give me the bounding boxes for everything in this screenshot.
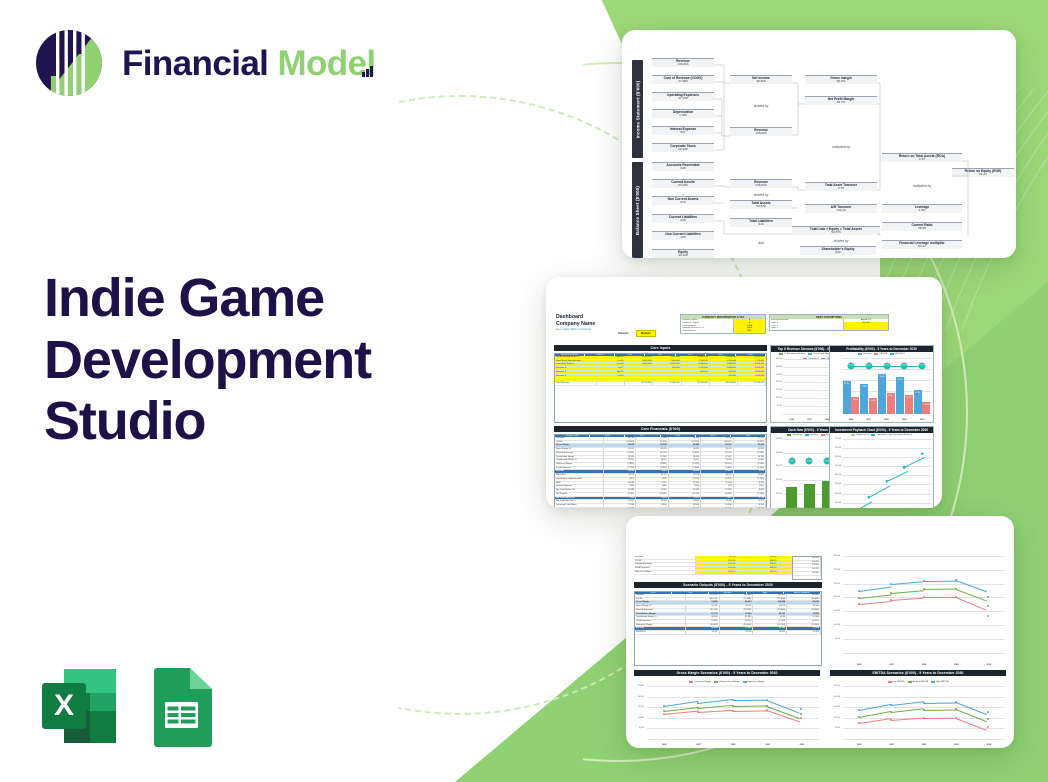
data-point[interactable] (766, 709, 768, 711)
dupont-node: Total Assets 50,576 (730, 200, 792, 209)
dupont-node: Total Liabilities 949 (730, 218, 792, 227)
core-financials-rows: Revenue30,20027,86036,44034,13421,539COG… (555, 437, 766, 508)
table-cell: 52.3% (787, 631, 821, 635)
operator-label: multiplied by (882, 184, 962, 188)
scenario-outputs-rows: Revenue125,130136,800150,480136,800COGS(… (635, 594, 821, 635)
line-segment (891, 709, 924, 713)
data-point[interactable] (858, 603, 860, 605)
data-point[interactable] (987, 605, 989, 607)
profitability-chart[interactable]: Profitability ($'000) - 5 Years to Decem… (829, 345, 934, 423)
line-segment (664, 701, 699, 707)
operator-label: Add (730, 241, 792, 245)
line-segment (859, 718, 892, 724)
y-tick: 15,000 (834, 610, 840, 612)
y-tick: - (781, 413, 782, 415)
y-tick: 52,000 (835, 465, 841, 467)
x-tick: 2029 (940, 664, 972, 666)
line-series (843, 556, 1004, 658)
x-tick: 2030 (973, 664, 1005, 666)
data-point[interactable] (890, 583, 892, 585)
data-point[interactable] (732, 710, 734, 712)
data-point[interactable] (923, 580, 925, 582)
dupont-node: Interest Expense 527 (652, 126, 714, 135)
data-point[interactable] (955, 588, 957, 590)
y-axis: 72,00071,00062,00052,00043,00033,00024,0… (831, 439, 842, 508)
line-segment (859, 595, 892, 599)
panel-row: Loan 3 (770, 327, 888, 330)
dupont-node: Total Asset Turnover 2.70 (805, 182, 877, 191)
y-tick: - (839, 738, 840, 740)
line-segment (923, 709, 956, 710)
y-tick: 15,000 (834, 706, 840, 708)
y-tick: 25,000 (638, 685, 644, 687)
ebitda-scenarios-chart[interactable]: 25,00020,00015,00010,0005,000-2026202720… (830, 686, 1006, 746)
y-tick: 30,000 (776, 465, 782, 467)
dupont-node: Total Liab + Equity = Total Assets 50,57… (792, 226, 880, 235)
x-tick: 2027 (875, 664, 907, 666)
x-tick: 2027 (801, 419, 819, 421)
x-axis: 20262027202820292030 (843, 664, 1005, 666)
investment-payback-chart[interactable]: Investment Payback Chart ($'000) - 5 Yea… (829, 426, 934, 508)
dupont-tree: Income Statement ($'000) Balance Sheet (… (632, 58, 1008, 236)
dupont-node: Net Profit Margin 35.7% (805, 96, 877, 105)
data-point[interactable] (890, 719, 892, 721)
y-tick: 10,000 (834, 624, 840, 626)
line-segment (732, 705, 767, 706)
scenario-label: Scenario (614, 331, 633, 336)
data-point[interactable] (697, 707, 699, 709)
line-segment (923, 589, 956, 590)
y-tick: 20,000 (776, 479, 782, 481)
table-cell: 60.8% (753, 631, 787, 635)
y-tick: 30,000 (834, 569, 840, 571)
data-point[interactable] (955, 596, 957, 598)
data-point[interactable] (923, 717, 925, 719)
brand-name-part2: Model (277, 46, 375, 81)
x-tick: 2028 (878, 419, 896, 421)
data-point[interactable] (732, 705, 734, 707)
payback-line (842, 439, 931, 508)
gross-margin-scenarios-chart[interactable]: 25,00020,00015,00010,0005,000-2026202720… (634, 686, 820, 746)
y-tick: 25,000 (834, 583, 840, 585)
y-tick: 15,000 (638, 706, 644, 708)
table-total-row: Total Revenue30,200,00027,860,00036,440,… (555, 382, 766, 386)
dupont-node: Depreciation 1,785 (652, 109, 714, 118)
x-tick: 2026 (842, 419, 860, 421)
x-tick: 2026 (843, 744, 875, 746)
income-statement-rail: Income Statement ($'000) (632, 60, 643, 158)
brand-logo: Financial Model (34, 28, 376, 98)
data-point[interactable] (858, 716, 860, 718)
x-tick: 2030 (973, 744, 1005, 746)
ebitda-legend: Low EBITDA Medium EBITDA High EBITDA (830, 680, 1006, 683)
data-point[interactable] (732, 699, 734, 701)
y-tick: 20,000 (834, 696, 840, 698)
bar-group (783, 359, 801, 414)
data-point[interactable] (890, 599, 892, 601)
x-tick: 2029 (940, 744, 972, 746)
x-tick: 2028 (908, 664, 940, 666)
dashboard-card[interactable]: Dashboard Company Name Go to Filled Tabl… (546, 277, 942, 508)
table-row: EBITDA %42.1%52.3%60.8%52.3% (635, 631, 821, 635)
dupont-node: Net Income 48,828 (730, 75, 792, 84)
line-segment (869, 486, 890, 498)
percent-line: 56.3%57.1%58.4%58.0%55.8% (842, 358, 931, 414)
y-tick: 25,000 (776, 374, 782, 376)
dupont-node: Cost of Revenue (COGS) 47,880 (652, 75, 714, 84)
y-tick: 35,000 (776, 358, 782, 360)
dupont-node: A/R Turnover 144.29 (805, 204, 877, 213)
x-tick: 2029 (895, 419, 913, 421)
operator-label: multiplied by (805, 145, 877, 149)
y-tick: 5,000 (639, 727, 644, 729)
dupont-node: Revenue 136,800 (730, 179, 792, 188)
y-tick: 72,000 (835, 438, 841, 440)
gross-margin-legend: Low Gross Margin Medium Gross Margin Hig… (634, 680, 820, 683)
brand-name-part1: Financial (122, 44, 268, 83)
data-point[interactable] (923, 709, 925, 711)
line-segment (886, 471, 907, 482)
y-axis: 50,00040,00030,00020,00010,000-(10,000) (772, 439, 783, 508)
core-financials-table[interactable]: Income Flow 2026 2027 2028 2029 2030 Rev… (554, 434, 767, 508)
data-point[interactable] (955, 717, 957, 719)
data-point[interactable] (890, 711, 892, 713)
line-segment (891, 717, 924, 720)
chart-legend: Payback year Cumulative Cash Generated (… (830, 433, 933, 436)
core-inputs-table[interactable]: Revenue Streams Launch 2026 2027 2028 20… (554, 353, 767, 423)
dupont-node: Non Current Liabilities 100 (652, 231, 714, 240)
data-point[interactable] (858, 722, 860, 724)
data-point[interactable] (858, 597, 860, 599)
data-label: 57.1% (865, 362, 872, 369)
y-tick: 5,000 (835, 638, 840, 640)
data-point[interactable] (885, 480, 888, 483)
y-tick: 10,000 (638, 717, 644, 719)
x-tick: 2030 (913, 419, 931, 421)
line-series (647, 686, 818, 738)
data-point[interactable] (987, 726, 989, 728)
y-axis (831, 358, 842, 421)
y-tick: 24,000 (835, 493, 841, 495)
line-segment (859, 601, 892, 605)
data-point[interactable] (921, 452, 924, 455)
page-title: Indie Game Development Studio (44, 268, 474, 453)
y-axis: 35,00030,00025,00020,00015,00010,0005,00… (772, 359, 783, 421)
x-tick: 2026 (647, 744, 681, 746)
y-tick: 14,000 (835, 502, 841, 504)
data-point[interactable] (987, 711, 989, 713)
gridline (843, 739, 1005, 740)
table-cell: EBITDA % (635, 631, 686, 635)
line-segment (859, 586, 892, 591)
scenario-analysis-card[interactable]: Revenue85.0%100.0%110.0% COGS105.0%100.0… (626, 516, 1014, 748)
x-tick: 2029 (750, 744, 784, 746)
line-segment (851, 501, 872, 508)
dupont-node: Non Current Assets 570 (652, 196, 714, 205)
data-point[interactable] (923, 702, 925, 704)
line-segment (956, 702, 987, 715)
y-tick: 50,000 (776, 438, 782, 440)
y-tick: 5,000 (835, 727, 840, 729)
dupont-node: Current Ratio 58.98 (882, 222, 962, 231)
revenue-scenarios-chart[interactable]: 35,00030,00025,00020,00015,00010,0005,00… (830, 556, 1006, 666)
debt-assumptions-panel: DEBT ASSUMPTIONS Loan/Grant NameAmount, … (769, 314, 889, 331)
data-label: 8,600 (788, 458, 795, 465)
data-point[interactable] (663, 713, 665, 715)
data-point[interactable] (955, 708, 957, 710)
financial-model-circle-logo-icon (34, 28, 104, 98)
dupont-node: Gross margin 65.0% (805, 75, 877, 84)
core-financials-section-bar: Core Financials ($'000) (554, 426, 767, 432)
dupont-node: Revenue 136,800 (652, 58, 714, 67)
y-tick: 20,000 (638, 696, 644, 698)
data-point[interactable] (903, 466, 906, 469)
line-segment (923, 597, 956, 598)
line-segment (891, 598, 924, 601)
data-point[interactable] (663, 705, 665, 707)
data-point[interactable] (955, 579, 957, 581)
dupont-node: Leverage 1.9% (882, 204, 962, 213)
dupont-node: Equity 49,628 (652, 249, 714, 258)
dupont-node: Current Assets 50,006 (652, 179, 714, 188)
y-tick: 5,000 (777, 405, 782, 407)
operator-label: divided by (805, 239, 877, 243)
y-tick: 10,000 (776, 493, 782, 495)
microsoft-excel-icon[interactable]: X (38, 665, 120, 747)
panel-row: Corporation %30% (681, 330, 765, 333)
dupont-node: Operating Expenses 17,758 (652, 92, 714, 101)
y-tick: 62,000 (835, 456, 841, 458)
dupont-analysis-card[interactable]: Income Statement ($'000) Balance Sheet (… (622, 30, 1016, 258)
chart-legend: Revenue EBITDA EBITDA % (830, 352, 933, 355)
line-segment (732, 710, 767, 711)
x-tick: 2030 (785, 744, 819, 746)
y-tick: - (839, 652, 840, 654)
y-tick: 30,000 (776, 366, 782, 368)
data-label: 58.4% (883, 362, 890, 369)
scenario-value[interactable]: Medium (636, 330, 656, 337)
x-tick: 2027 (681, 744, 715, 746)
y-axis: 25,00020,00015,00010,0005,000- (634, 686, 645, 746)
dashboard-sheet: Dashboard Company Name Go to Filled Tabl… (554, 314, 935, 486)
data-point[interactable] (800, 717, 802, 719)
bar-group (801, 359, 819, 414)
y-tick: - (643, 738, 644, 740)
y-tick: 35,000 (834, 555, 840, 557)
dupont-node: Corporate Taxes 20,926 (652, 143, 714, 152)
data-point[interactable] (766, 705, 768, 707)
x-axis: 20262027202820292030 (647, 744, 819, 746)
y-axis: 25,00020,00015,00010,0005,000- (830, 686, 841, 746)
y-tick: 71,000 (835, 447, 841, 449)
y-tick: 40,000 (776, 452, 782, 454)
y-tick: 15,000 (776, 389, 782, 391)
y-tick: 43,000 (835, 474, 841, 476)
x-axis: 20262027202820292030 (843, 744, 1005, 746)
line-segment (698, 710, 733, 713)
y-tick: 20,000 (776, 381, 782, 383)
data-point[interactable] (766, 699, 768, 701)
dupont-node: Return on Total Assets (ROA) 0.97 (882, 153, 962, 162)
dashboard-title: Dashboard Company Name Go to Filled Tabl… (556, 314, 595, 331)
table-row: 100.0% (793, 572, 821, 576)
scenario-active-table: 100.0% 100.0% 100.0% 100.0% 100.0% (792, 556, 822, 580)
operator-label: divided by (730, 193, 792, 197)
table-cell: 52.3% (720, 631, 754, 635)
data-point[interactable] (800, 713, 802, 715)
data-point[interactable] (987, 615, 989, 617)
line-segment (698, 705, 733, 709)
balance-sheet-rail: Balance Sheet ($'000) (632, 162, 643, 258)
data-point[interactable] (867, 496, 870, 499)
data-label: 58.0% (901, 362, 908, 369)
x-tick: 2027 (875, 744, 907, 746)
x-tick: 2027 (860, 419, 878, 421)
data-point[interactable] (858, 590, 860, 592)
data-point[interactable] (890, 704, 892, 706)
line-segment (891, 582, 924, 585)
line-segment (923, 702, 956, 703)
line-segment (891, 590, 924, 593)
data-point[interactable] (987, 596, 989, 598)
line-series (843, 686, 1004, 738)
table-cell: 42.1% (686, 631, 720, 635)
line-segment (698, 699, 733, 704)
y-tick: 25,000 (834, 685, 840, 687)
line-segment (859, 704, 891, 711)
operator-label: divided by (730, 104, 792, 108)
y-tick: 10,000 (776, 397, 782, 399)
logo-bars-icon (362, 64, 372, 77)
data-point[interactable] (923, 596, 925, 598)
currency-denomination-panel: CURRENCY DENOMINATION & TAX Currency Inp… (680, 314, 766, 334)
slide-canvas: Financial Model Indie Game Development S… (0, 0, 1048, 782)
dupont-node: Financial Leverage multiplier 63.22 (882, 240, 962, 249)
brand-wordmark: Financial Model (122, 46, 376, 81)
google-sheets-icon[interactable] (148, 665, 214, 747)
data-point[interactable] (697, 711, 699, 713)
y-tick: 20,000 (834, 596, 840, 598)
y-tick: - (781, 506, 782, 508)
x-tick: 2026 (783, 419, 801, 421)
gridline (647, 739, 819, 740)
line-segment (904, 457, 925, 468)
scenario-selector[interactable]: Scenario Medium (614, 330, 656, 337)
line-segment (923, 580, 956, 581)
toc-link[interactable]: Go to Filled Table of Contents (556, 328, 595, 331)
y-axis: 35,00030,00025,00020,00015,00010,0005,00… (830, 556, 841, 666)
y-tick: 10,000 (834, 717, 840, 719)
line-segment (664, 711, 699, 715)
data-point[interactable] (858, 709, 860, 711)
dupont-node: Current Liabilities 648 (652, 214, 714, 223)
line-segment (732, 700, 767, 701)
data-point[interactable] (890, 592, 892, 594)
dupont-node-roe: Return on Equity (ROE) 61.03 (952, 168, 1014, 177)
dupont-node: Shareholder's Equity 800 (800, 246, 876, 255)
data-point[interactable] (923, 588, 925, 590)
data-point[interactable] (800, 708, 802, 710)
scenario-sheet: Revenue85.0%100.0%110.0% COGS105.0%100.0… (634, 554, 1006, 728)
data-label: 56.3% (847, 362, 854, 369)
dupont-node: Revenue 136,800 (730, 127, 792, 136)
file-format-icons: X (38, 665, 214, 747)
data-point[interactable] (955, 701, 957, 703)
dupont-node: Accounts Receivable 948 (652, 162, 714, 171)
x-axis: 20262027202820292030 (842, 419, 931, 421)
x-tick: 2028 (908, 744, 940, 746)
line-segment (891, 702, 924, 706)
scenario-outputs-table[interactable]: 2030 Low Medium High Active (Medium) Rev… (634, 591, 822, 666)
line-segment (923, 717, 956, 718)
data-point[interactable] (987, 718, 989, 720)
x-tick: 2026 (843, 664, 875, 666)
x-tick: 2028 (716, 744, 750, 746)
core-inputs-section-bar: Core Inputs (554, 345, 767, 351)
ebitda-scenarios-bar: EBITDA Scenarios ($'000) - 5 Years to De… (830, 670, 1006, 676)
line-segment (859, 711, 891, 718)
data-point[interactable] (663, 710, 665, 712)
scenario-outputs-section-bar: Scenario Outputs ($'000) - 5 Years to De… (634, 582, 822, 588)
y-tick: 33,000 (835, 483, 841, 485)
gross-margin-scenarios-bar: Gross Margin Scenarios ($'000) - 5 Years… (634, 670, 820, 676)
data-point[interactable] (697, 702, 699, 704)
data-label: 10,400 (806, 458, 813, 465)
data-label: 55.8% (919, 362, 926, 369)
svg-text:X: X (54, 689, 74, 722)
